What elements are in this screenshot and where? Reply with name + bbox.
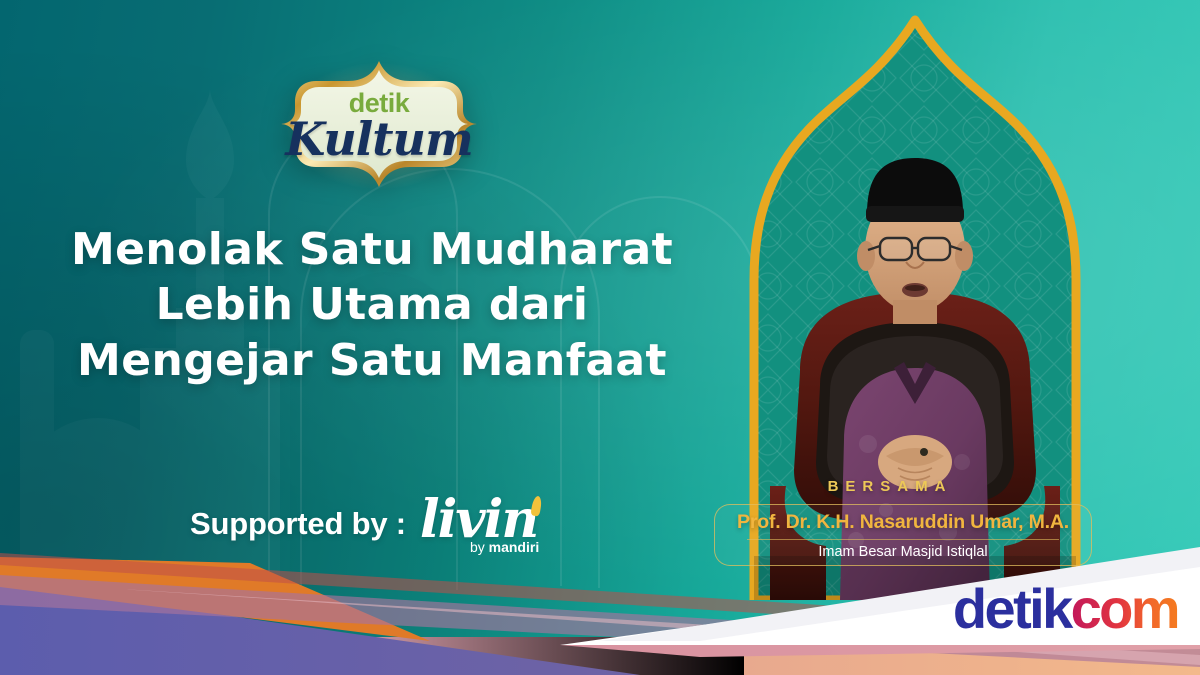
- detikcom-logo-com: com: [1071, 577, 1178, 640]
- title-line-1: Menolak Satu Mudharat: [52, 222, 692, 277]
- detikcom-logo: detikcom: [953, 581, 1178, 637]
- kultum-promo-slide: detik Kultum Menolak Satu Mudharat Lebih…: [0, 0, 1200, 675]
- speaker-name: Prof. Dr. K.H. Nasaruddin Umar, M.A.: [737, 511, 1069, 534]
- sponsor-label: Supported by :: [190, 506, 406, 542]
- speaker-divider: [747, 539, 1059, 540]
- bersama-label: BERSAMA: [690, 478, 1090, 495]
- detikcom-logo-detik: detik: [953, 577, 1071, 640]
- detik-kultum-badge: detik Kultum: [272, 58, 486, 190]
- title-line-2: Lebih Utama dari: [52, 277, 692, 332]
- page-title: Menolak Satu Mudharat Lebih Utama dari M…: [52, 222, 692, 388]
- badge-kultum-label: Kultum: [285, 116, 472, 162]
- livin-wordmark: livin: [420, 496, 537, 544]
- title-line-3: Mengejar Satu Manfaat: [52, 333, 692, 388]
